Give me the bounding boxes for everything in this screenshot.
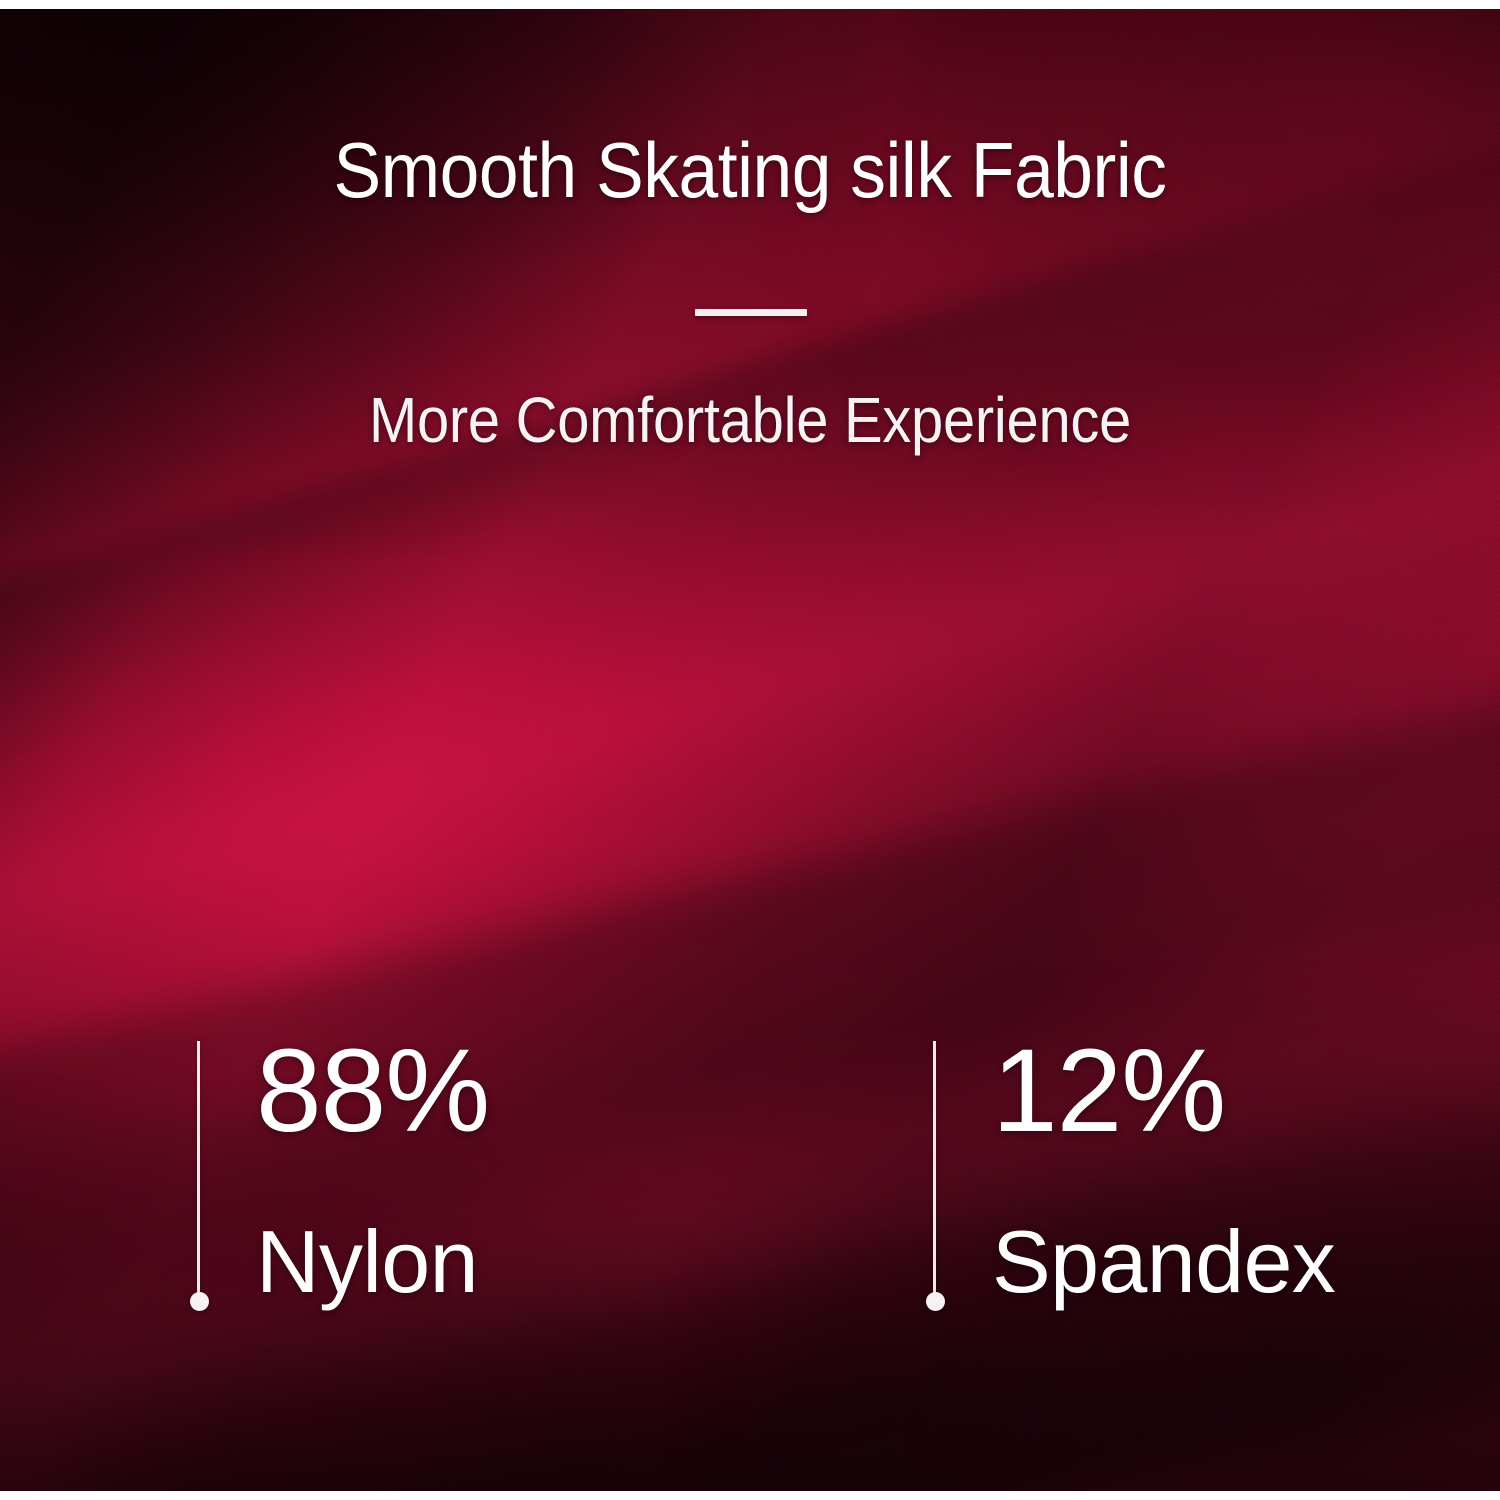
stat-material-label: Spandex — [992, 1218, 1335, 1306]
bottom-letterbox-strip — [0, 1491, 1500, 1500]
banner-headline: Smooth Skating silk Fabric — [64, 131, 1437, 209]
stat-percentage-value: 88% — [256, 1032, 489, 1158]
marker-stem — [197, 1041, 200, 1294]
line-dot-marker-icon — [190, 1032, 208, 1322]
top-letterbox-strip — [0, 0, 1500, 9]
banner-subheadline: More Comfortable Experience — [71, 388, 1429, 452]
stat-percentage-value: 12% — [992, 1032, 1335, 1158]
product-fabric-banner: Smooth Skating silk Fabric More Comforta… — [0, 0, 1500, 1500]
banner-content-overlay: Smooth Skating silk Fabric More Comforta… — [0, 9, 1500, 1491]
marker-stem — [933, 1041, 936, 1294]
stat-text-group: 12% Spandex — [992, 1032, 1335, 1306]
stat-material-label: Nylon — [256, 1218, 489, 1306]
stat-text-group: 88% Nylon — [256, 1032, 489, 1306]
line-dot-marker-icon — [926, 1032, 944, 1322]
marker-dot — [190, 1292, 209, 1311]
headline-divider-rule — [695, 309, 807, 316]
marker-dot — [926, 1292, 945, 1311]
